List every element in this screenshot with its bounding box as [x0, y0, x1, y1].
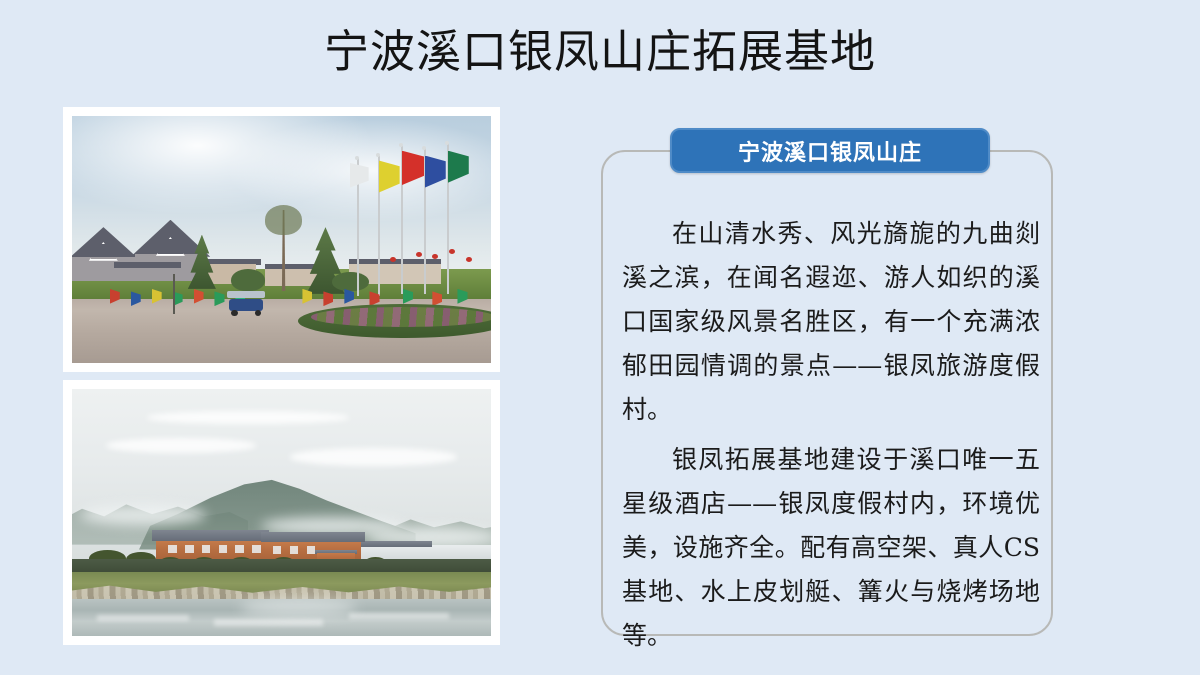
resort-plaza-photo	[63, 107, 500, 372]
building-window-2	[185, 545, 193, 554]
riverside-resort-photo	[63, 380, 500, 645]
shrub-cluster-1	[231, 269, 265, 291]
building-window-4	[219, 545, 227, 554]
red-lantern-2	[416, 252, 422, 257]
water-reflection-1	[97, 615, 189, 621]
cloud-wisp-1	[147, 411, 348, 423]
riverside-resort-photo-canvas	[72, 389, 491, 636]
water-reflection-3	[349, 613, 450, 619]
building-window-1	[168, 545, 176, 554]
info-card-title-badge: 宁波溪口银凤山庄	[670, 128, 990, 173]
slide-root: 宁波溪口银凤山庄拓展基地	[0, 0, 1200, 675]
info-paragraph-2: 银凤拓展基地建设于溪口唯一五星级酒店——银凤度假村内，环境优美，设施齐全。配有高…	[622, 438, 1040, 658]
flagpole-finial-4	[422, 146, 426, 150]
resort-building-roof-left	[152, 530, 269, 541]
shrub-cluster-2	[332, 272, 370, 292]
tree-crown-bare	[265, 205, 303, 235]
building-window-3	[202, 545, 210, 554]
villa-roof-3	[114, 262, 181, 268]
info-paragraph-1: 在山清水秀、风光旖旎的九曲剡溪之滨，在闻名遐迩、游人如织的溪口国家级风景名胜区，…	[622, 212, 1040, 432]
resort-building-roof-right	[261, 532, 366, 542]
page-title: 宁波溪口银凤山庄拓展基地	[0, 24, 1200, 80]
building-window-5	[235, 545, 243, 554]
cloud-wisp-3	[290, 448, 458, 465]
water-reflection-2	[214, 619, 323, 626]
building-window-7	[273, 546, 281, 555]
shuttle-cart-roof	[227, 291, 265, 297]
mist-band-1	[80, 505, 206, 525]
building-window-9	[307, 546, 315, 555]
building-window-8	[290, 546, 298, 555]
flagpole-finial-1	[355, 156, 359, 160]
info-card-body: 在山清水秀、风光旖旎的九曲剡溪之滨，在闻名遐迩、游人如织的溪口国家级风景名胜区，…	[622, 212, 1040, 664]
red-lantern-5	[466, 257, 472, 262]
flower-bed-blooms	[311, 307, 491, 327]
lamp-post	[173, 274, 175, 314]
building-window-6	[252, 545, 260, 554]
resort-plaza-photo-canvas	[72, 116, 491, 363]
